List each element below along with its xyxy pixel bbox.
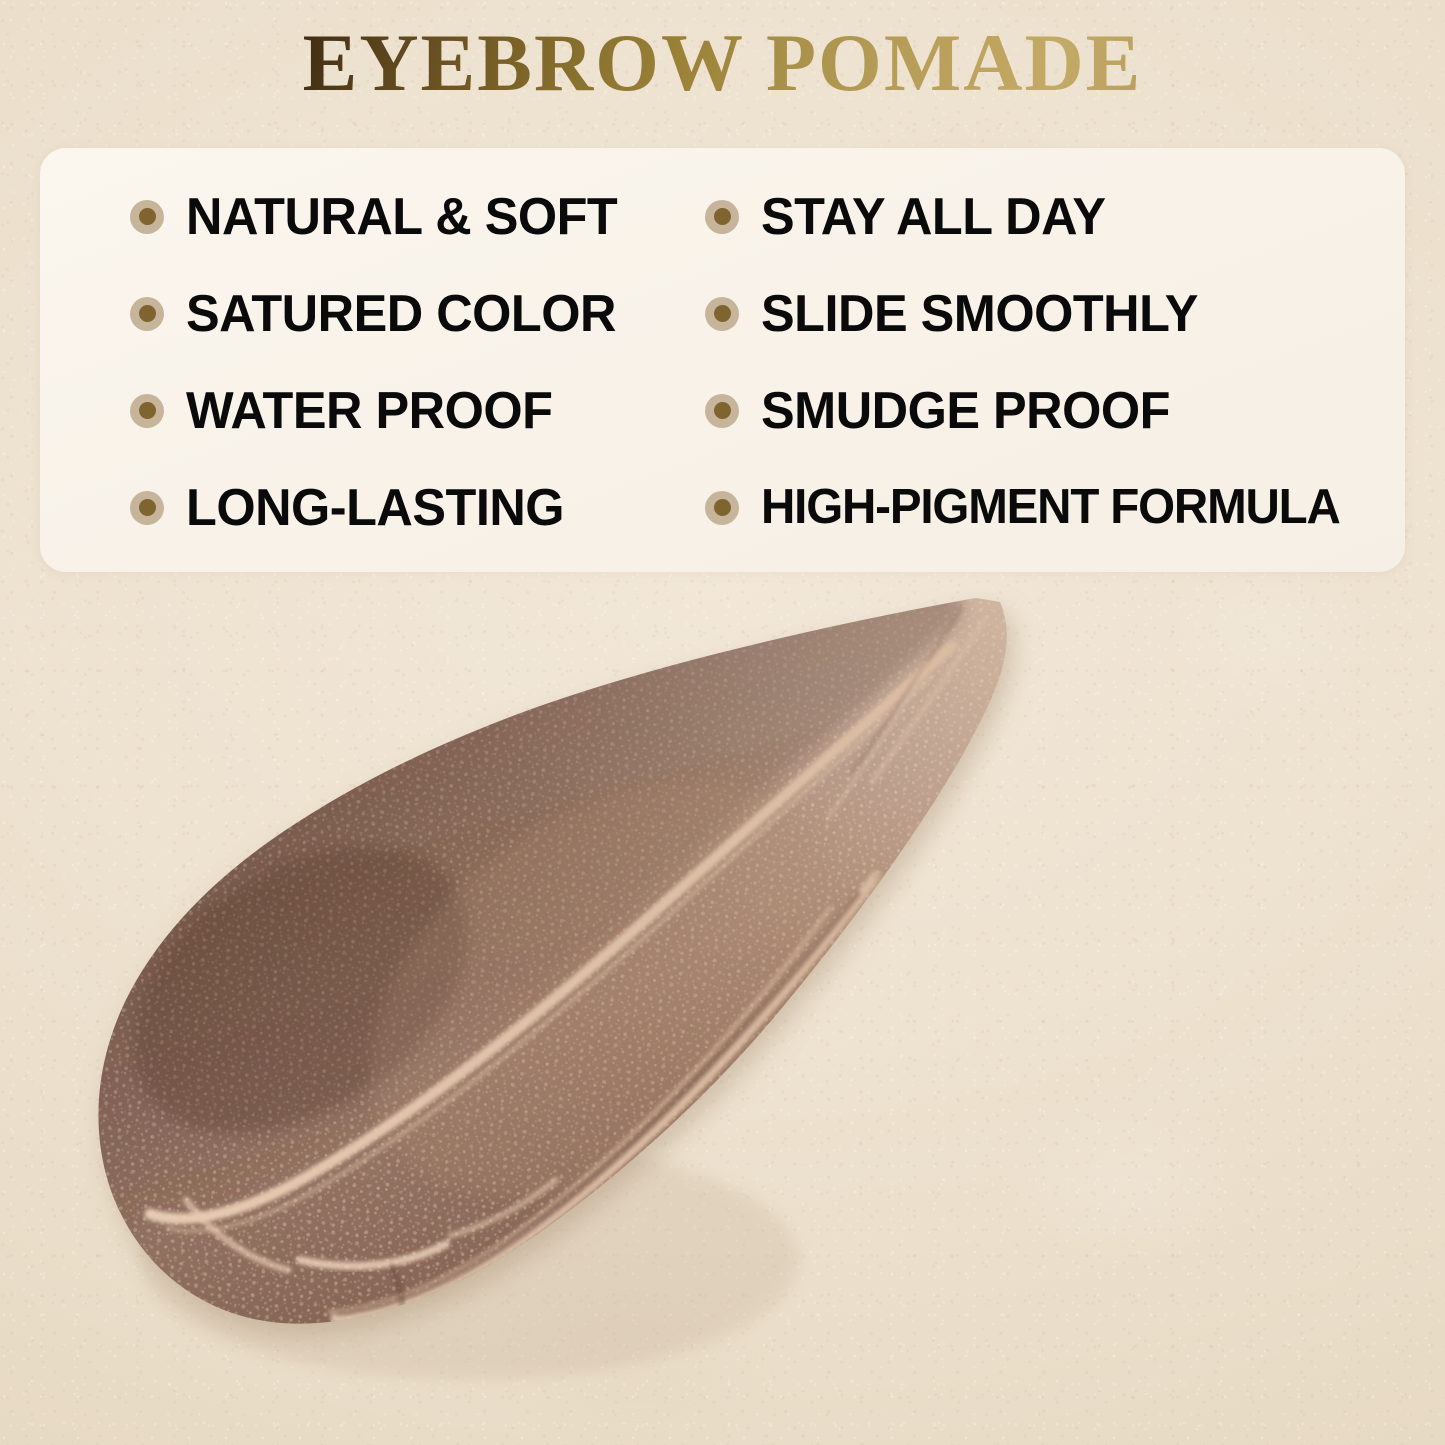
bullet-icon: [705, 491, 739, 525]
bullet-icon: [705, 297, 739, 331]
feature-label: NATURAL & SOFT: [186, 191, 617, 243]
bullet-icon: [130, 394, 164, 428]
feature-label: SATURED COLOR: [186, 288, 616, 340]
feature-label: SMUDGE PROOF: [761, 385, 1170, 437]
feature-item-smudge-proof: SMUDGE PROOF: [705, 362, 1405, 459]
feature-item-long-lasting: LONG-LASTING: [40, 459, 705, 556]
bullet-icon: [705, 200, 739, 234]
product-infographic: EYEBROW POMADE NATURAL & SOFT STAY ALL D…: [0, 0, 1445, 1445]
feature-item-water-proof: WATER PROOF: [40, 362, 705, 459]
feature-label: LONG-LASTING: [186, 482, 564, 534]
features-grid: NATURAL & SOFT STAY ALL DAY SATURED COLO…: [40, 148, 1405, 572]
feature-item-high-pigment-formula: HIGH-PIGMENT FORMULA: [705, 459, 1405, 556]
bullet-icon: [130, 200, 164, 234]
page-title: EYEBROW POMADE: [303, 22, 1143, 104]
feature-item-natural-soft: NATURAL & SOFT: [40, 168, 705, 265]
pomade-smear-illustration: [0, 560, 1445, 1445]
page-title-wrap: EYEBROW POMADE: [0, 22, 1445, 104]
features-card: NATURAL & SOFT STAY ALL DAY SATURED COLO…: [40, 148, 1405, 572]
bullet-icon: [130, 297, 164, 331]
feature-item-slide-smoothly: SLIDE SMOOTHLY: [705, 265, 1405, 362]
feature-label: HIGH-PIGMENT FORMULA: [761, 483, 1340, 532]
bullet-icon: [705, 394, 739, 428]
product-swatch-stage: [0, 560, 1445, 1445]
feature-item-satured-color: SATURED COLOR: [40, 265, 705, 362]
feature-label: STAY ALL DAY: [761, 191, 1106, 243]
feature-label: WATER PROOF: [186, 385, 552, 437]
feature-item-stay-all-day: STAY ALL DAY: [705, 168, 1405, 265]
bullet-icon: [130, 491, 164, 525]
feature-label: SLIDE SMOOTHLY: [761, 288, 1198, 340]
